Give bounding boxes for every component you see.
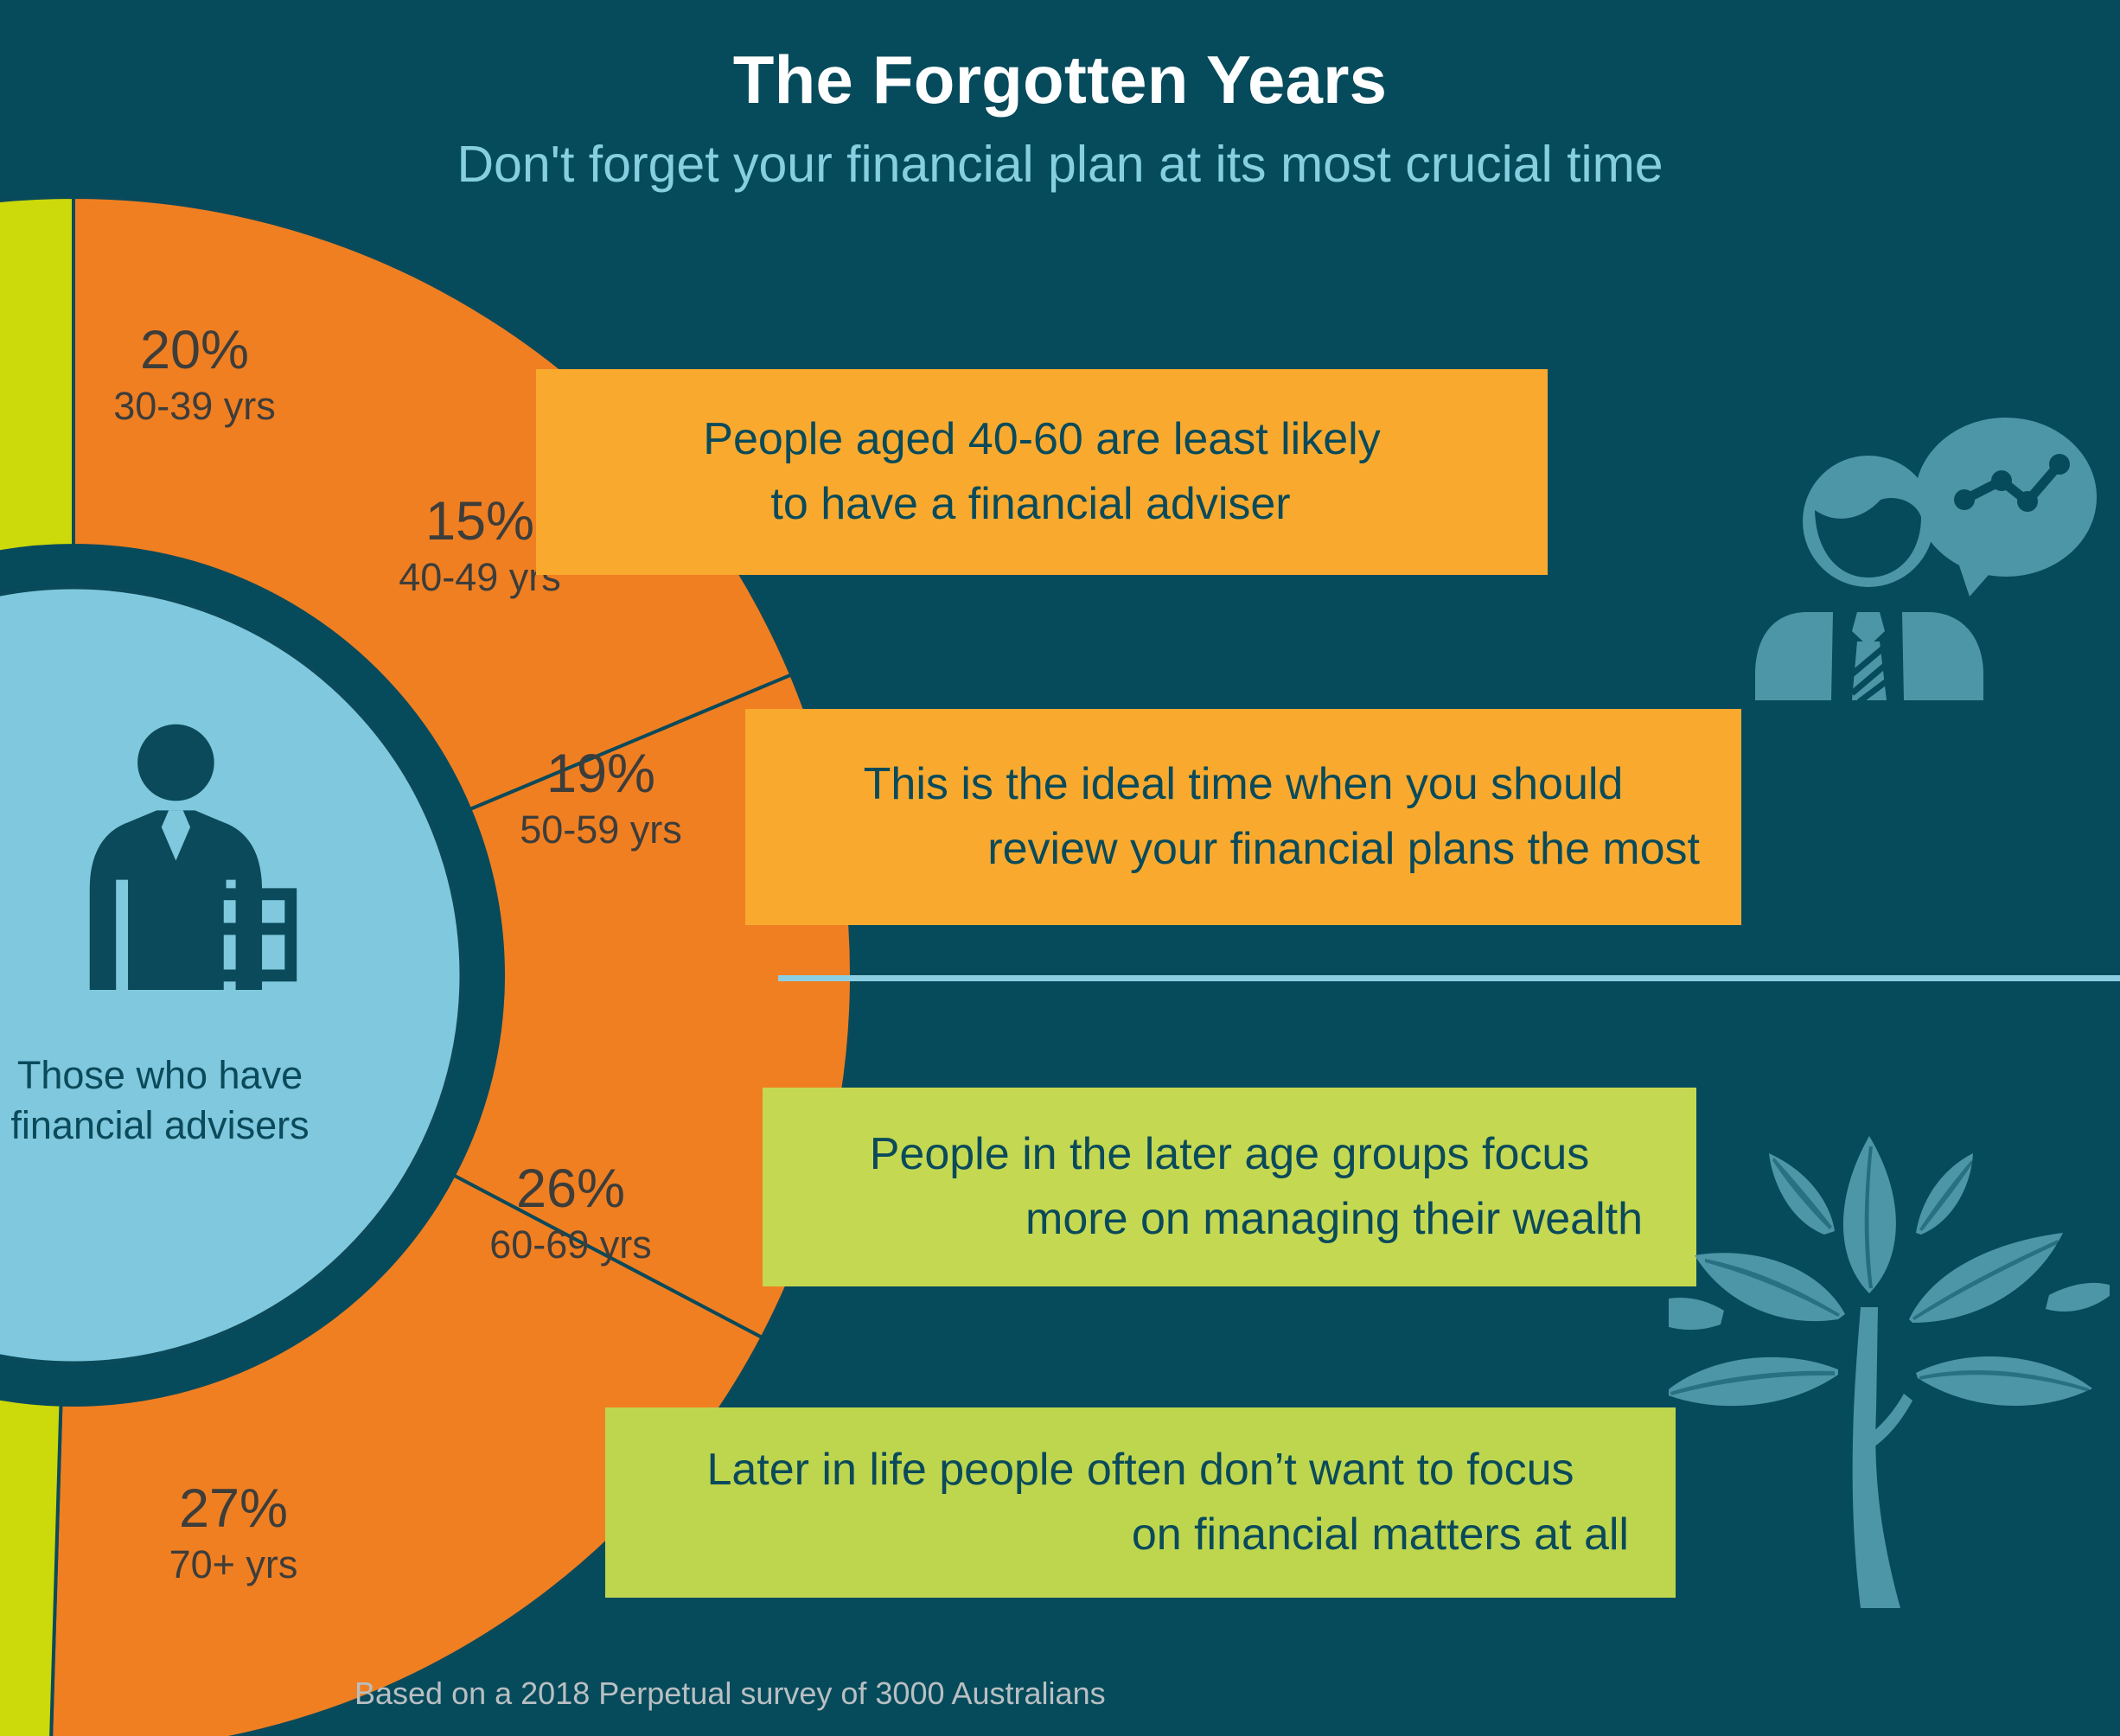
segment-label-50-59: 19% 50-59 yrs [458, 744, 744, 852]
growth-tree-icon [1669, 1124, 2110, 1634]
segment-age-range: 30-39 yrs [52, 385, 337, 428]
businessman-briefcase-icon-top [52, 722, 329, 990]
callout-line2: to have a financial adviser [536, 472, 1548, 537]
segment-age-range: 60-69 yrs [428, 1223, 713, 1267]
segment-percent: 26% [428, 1158, 713, 1220]
segment-label-60-69: 26% 60-69 yrs [428, 1158, 713, 1267]
callout-box-ideal-review-time: This is the ideal time when you should r… [745, 709, 1741, 925]
segment-age-range: 50-59 yrs [458, 808, 744, 852]
callout-line1: Later in life people often don’t want to… [605, 1438, 1676, 1503]
callout-line2: on financial matters at all [605, 1503, 1676, 1567]
section-divider [778, 975, 2120, 981]
header: The Forgotten Years Don't forget your fi… [0, 0, 2120, 192]
segment-label-30-39: 20% 30-39 yrs [52, 320, 337, 428]
segment-percent: 19% [458, 744, 744, 805]
callout-box-wealth-management-focus: People in the later age groups focus mor… [763, 1088, 1696, 1286]
adviser-speech-chart-icon [1755, 415, 2101, 726]
person-head-icon [1803, 456, 1934, 587]
page-title: The Forgotten Years [0, 0, 2120, 116]
segment-age-range: 70+ yrs [91, 1543, 376, 1586]
segment-percent: 20% [52, 320, 337, 381]
callout-box-later-life-avoidance: Later in life people often don’t want to… [605, 1407, 1676, 1598]
segment-percent: 27% [91, 1478, 376, 1540]
page-subtitle: Don't forget your financial plan at its … [0, 116, 2120, 192]
segment-label-70-plus: 27% 70+ yrs [91, 1478, 376, 1586]
person-suit-icon [1755, 612, 1983, 702]
center-label-line2: financial advisers [0, 1101, 363, 1151]
source-note: Based on a 2018 Perpetual survey of 3000… [354, 1675, 1106, 1712]
callout-box-adviser-likelihood: People aged 40-60 are least likely to ha… [536, 369, 1548, 575]
speech-bubble-icon [1915, 418, 2097, 597]
callout-line1: People in the later age groups focus [763, 1122, 1696, 1187]
infographic-canvas: The Forgotten Years Don't forget your fi… [0, 0, 2120, 1736]
donut-center-label: Those who have financial advisers [0, 1050, 363, 1150]
center-label-line1: Those who have [0, 1050, 363, 1101]
callout-line1: This is the ideal time when you should [745, 752, 1741, 817]
callout-line2: more on managing their wealth [763, 1187, 1696, 1252]
callout-line2: review your financial plans the most [745, 817, 1741, 882]
callout-line1: People aged 40-60 are least likely [536, 407, 1548, 472]
